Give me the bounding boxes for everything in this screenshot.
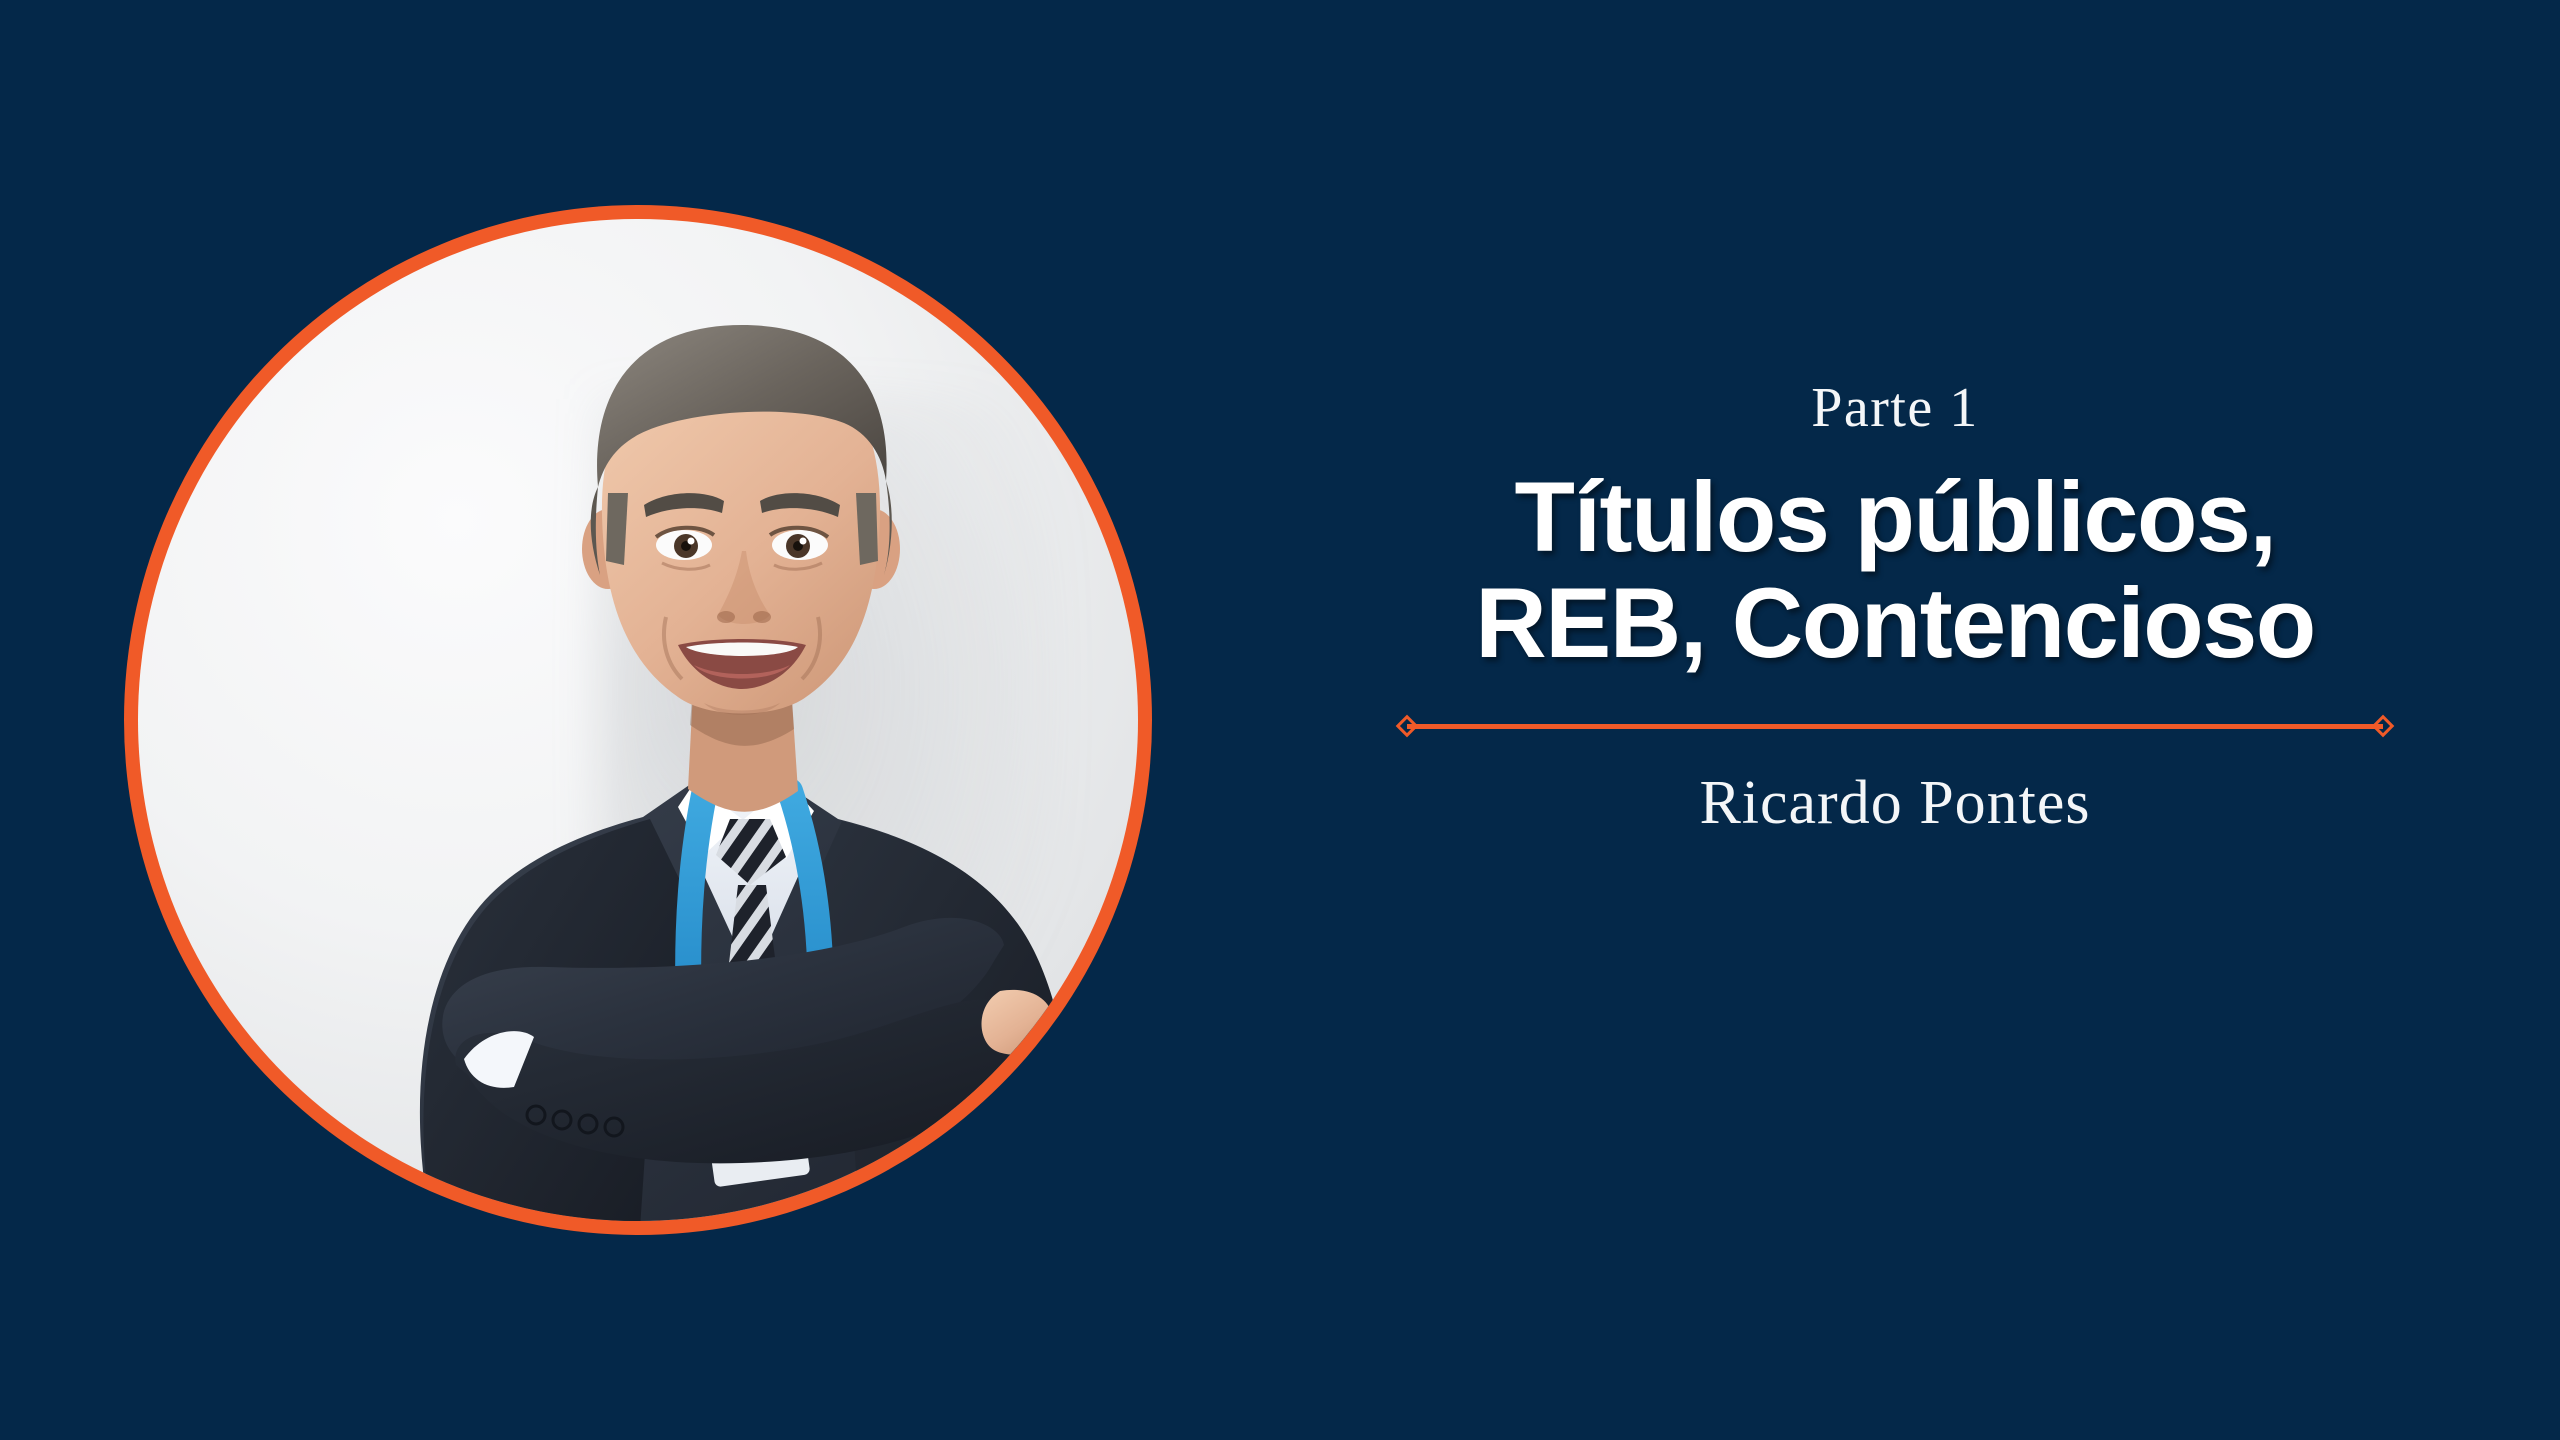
title-text-column: Parte 1 Títulos públicos, REB, Contencio… xyxy=(1330,380,2460,834)
speaker-name: Ricardo Pontes xyxy=(1330,772,2460,834)
page-title: Títulos públicos, REB, Contencioso xyxy=(1330,464,2460,676)
photo-backdrop-shadow xyxy=(598,399,1058,1120)
diamond-right-icon xyxy=(2372,715,2395,738)
part-label: Parte 1 xyxy=(1330,380,2460,436)
title-line-2: REB, Contencioso xyxy=(1330,570,2460,676)
portrait-photo xyxy=(138,219,1138,1221)
divider xyxy=(1399,714,2391,738)
presentation-slide: Parte 1 Títulos públicos, REB, Contencio… xyxy=(0,0,2560,1440)
title-line-1: Títulos públicos, xyxy=(1330,464,2460,570)
portrait-block xyxy=(124,205,1152,1235)
divider-line xyxy=(1407,724,2383,729)
